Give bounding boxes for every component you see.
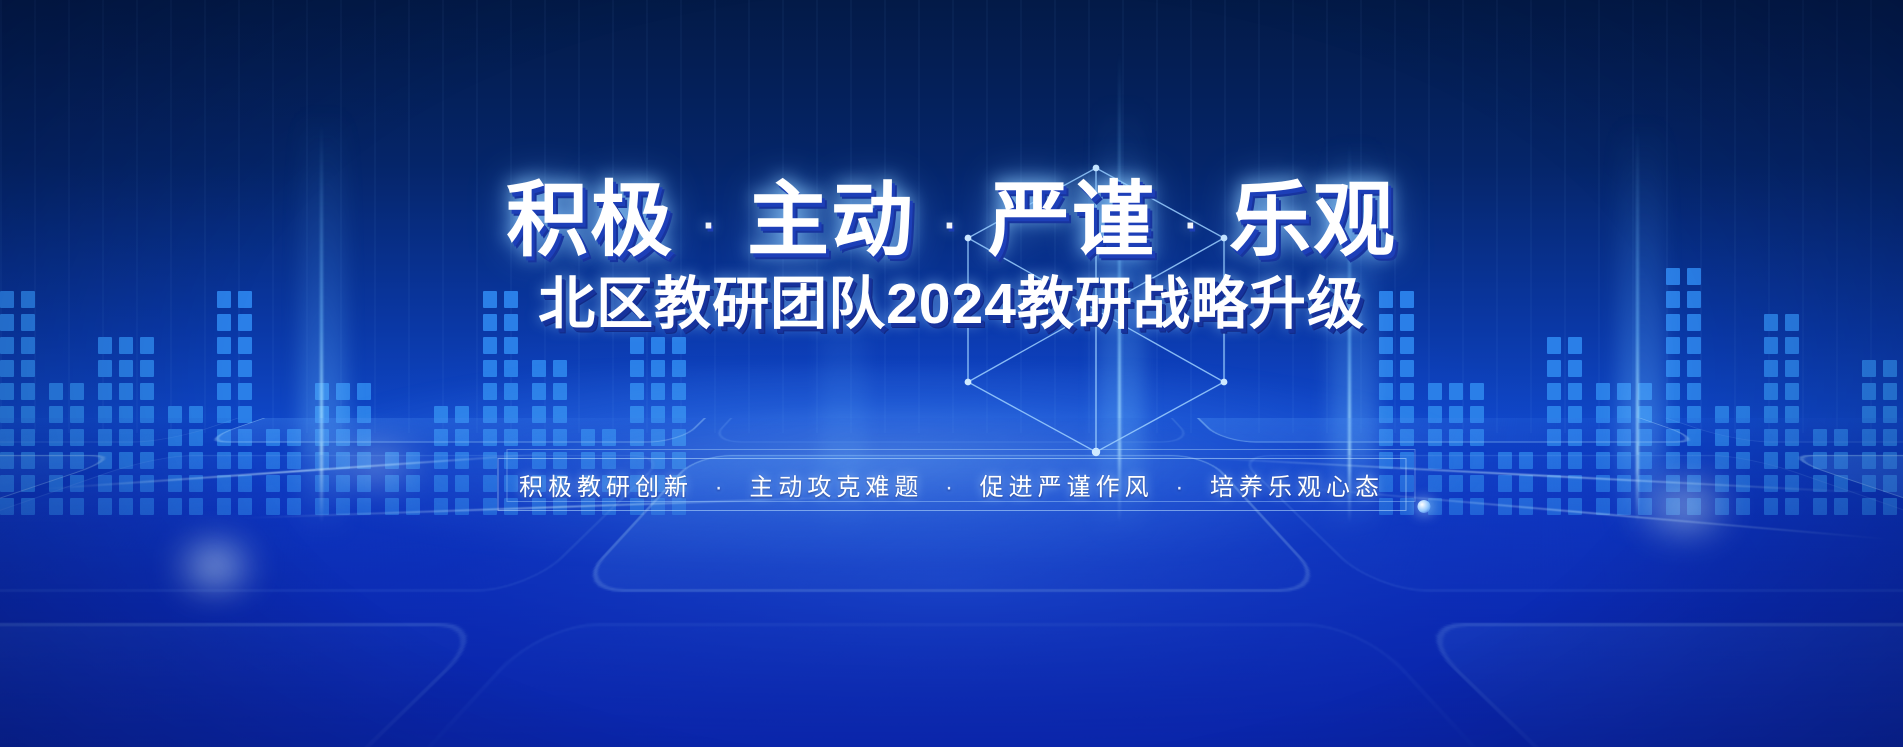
vignette-overlay <box>0 0 1903 747</box>
tech-conference-banner: 积极 · 主动 · 严谨 · 乐观 北区教研团队2024教研战略升级 积极教研创… <box>0 0 1903 747</box>
